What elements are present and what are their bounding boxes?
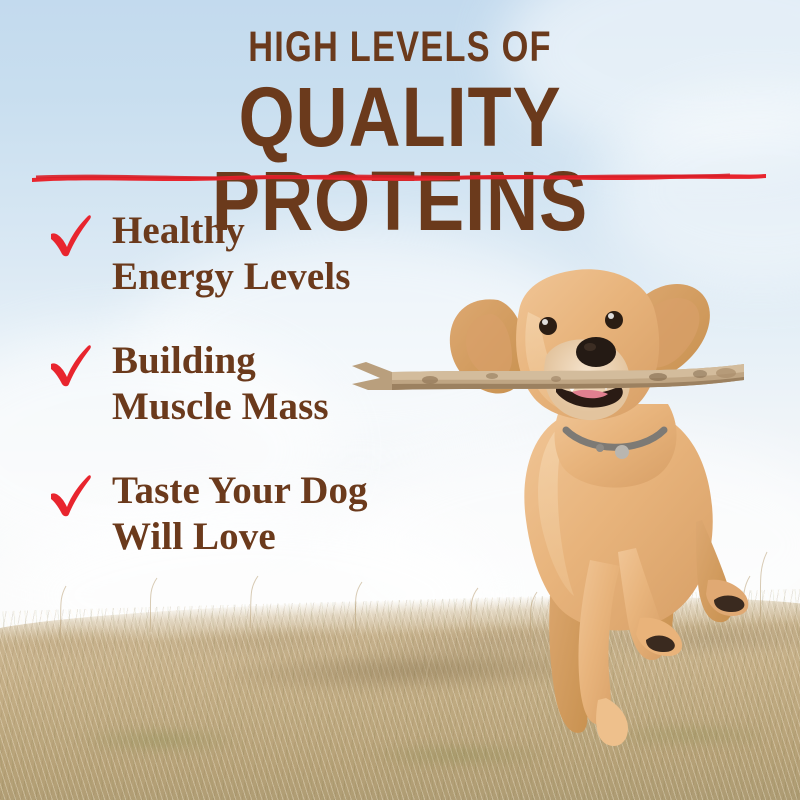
list-item: Building Muscle Mass: [48, 338, 468, 434]
headline-line-1: HIGH LEVELS OF: [80, 26, 720, 69]
list-item-text: Taste Your Dog Will Love: [112, 468, 468, 559]
dog-eye-right: [605, 311, 623, 329]
dog-eye-left: [539, 317, 557, 335]
list-item-line-1: Taste Your Dog: [112, 468, 468, 514]
infographic-canvas: HIGH LEVELS OF QUALITY PROTEINS Healthy …: [0, 0, 800, 800]
red-checkmark-icon: [48, 472, 94, 518]
list-item-line-2: Energy Levels: [112, 254, 468, 300]
list-item-text: Healthy Energy Levels: [112, 208, 468, 299]
list-item-line-2: Muscle Mass: [112, 384, 468, 430]
collar-ring: [596, 444, 604, 452]
benefits-list: Healthy Energy Levels Building Muscle Ma…: [48, 208, 468, 598]
list-item-line-1: Building: [112, 338, 468, 384]
red-checkmark-icon: [48, 212, 94, 258]
dog-paw-planted: [596, 698, 628, 746]
list-item-line-2: Will Love: [112, 514, 468, 560]
list-item-line-1: Healthy: [112, 208, 468, 254]
list-item: Healthy Energy Levels: [48, 208, 468, 304]
dog-nose: [576, 337, 616, 367]
list-item-text: Building Muscle Mass: [112, 338, 468, 429]
list-item: Taste Your Dog Will Love: [48, 468, 468, 564]
red-checkmark-icon: [48, 342, 94, 388]
red-brush-underline-icon: [30, 168, 770, 184]
collar-tag: [615, 445, 629, 459]
